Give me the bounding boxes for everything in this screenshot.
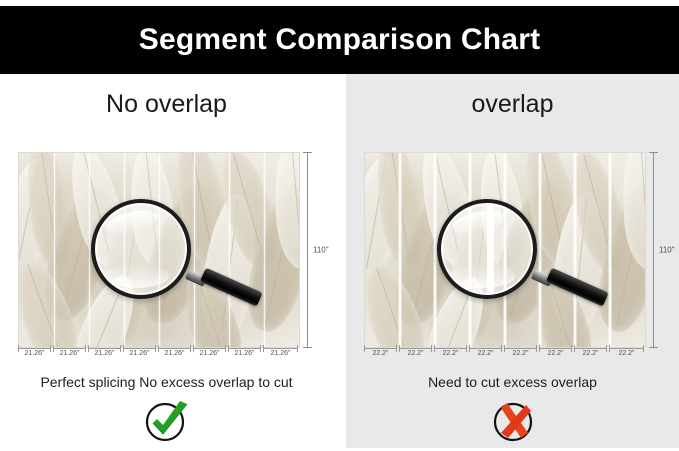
panel-gap bbox=[333, 74, 346, 448]
overlap-seam bbox=[398, 153, 402, 347]
caption-no-overlap: Perfect splicing No excess overlap to cu… bbox=[0, 374, 333, 390]
panel-overlap: overlap bbox=[346, 74, 679, 448]
segment-width-label: 21.26" bbox=[158, 350, 191, 357]
seam-line bbox=[54, 153, 55, 347]
overlap-seam bbox=[573, 153, 577, 347]
page-title: Segment Comparison Chart bbox=[139, 25, 541, 55]
seam-line bbox=[229, 153, 230, 347]
panel-divider bbox=[333, 74, 334, 448]
segment-width-label: 22.2" bbox=[469, 350, 502, 357]
height-label: 110" bbox=[313, 246, 329, 255]
segment-width-label: 21.26" bbox=[18, 350, 51, 357]
comparison-panels: No overlap bbox=[0, 74, 679, 448]
segment-width-label: 21.26" bbox=[88, 350, 121, 357]
mural-image-no-overlap bbox=[18, 152, 300, 348]
segment-ticks-no-overlap: 21.26" 21.26" 21.26" 21.26" 21.26" 21.26… bbox=[18, 348, 300, 366]
seam-line bbox=[264, 153, 265, 347]
segment-comparison-chart: Segment Comparison Chart No overlap bbox=[0, 0, 679, 448]
title-banner: Segment Comparison Chart bbox=[0, 6, 679, 74]
segment-width-label: 22.2" bbox=[504, 350, 537, 357]
seam-line bbox=[89, 153, 90, 347]
height-dimension-overlap: 110" bbox=[649, 152, 679, 348]
panel-heading-overlap: overlap bbox=[346, 90, 679, 119]
check-mark-icon bbox=[140, 398, 194, 446]
segment-width-label: 22.2" bbox=[609, 350, 644, 357]
height-dimension-no-overlap: 110" bbox=[303, 152, 333, 348]
segment-width-label: 22.2" bbox=[364, 350, 397, 357]
verdict-no-overlap bbox=[140, 398, 194, 446]
segment-width-label: 21.26" bbox=[193, 350, 226, 357]
seam-line bbox=[159, 153, 160, 347]
panel-no-overlap: No overlap bbox=[0, 74, 333, 448]
overlap-seam bbox=[468, 153, 472, 347]
segment-width-label: 22.2" bbox=[399, 350, 432, 357]
overlap-seam bbox=[503, 153, 507, 347]
cross-mark-icon bbox=[486, 398, 540, 446]
overlap-seam bbox=[538, 153, 542, 347]
panel-heading-no-overlap: No overlap bbox=[0, 90, 333, 119]
segment-width-label: 21.26" bbox=[53, 350, 86, 357]
segment-width-label: 21.26" bbox=[123, 350, 156, 357]
segment-ticks-overlap: 22.2" 22.2" 22.2" 22.2" 22.2" 22.2" 22.2… bbox=[364, 348, 646, 366]
seam-line bbox=[124, 153, 125, 347]
height-label: 110" bbox=[659, 246, 675, 255]
segment-width-label: 21.26" bbox=[228, 350, 261, 357]
mural-no-overlap bbox=[18, 152, 300, 348]
overlap-seam bbox=[433, 153, 437, 347]
verdict-overlap bbox=[486, 398, 540, 446]
overlap-seam bbox=[608, 153, 612, 347]
mural-image-overlap bbox=[364, 152, 646, 348]
caption-overlap: Need to cut excess overlap bbox=[346, 374, 679, 390]
segment-width-label: 22.2" bbox=[574, 350, 607, 357]
mural-overlap bbox=[364, 152, 646, 348]
segment-width-label: 22.2" bbox=[539, 350, 572, 357]
seam-line bbox=[194, 153, 195, 347]
segment-width-label: 21.26" bbox=[263, 350, 298, 357]
segment-width-label: 22.2" bbox=[434, 350, 467, 357]
